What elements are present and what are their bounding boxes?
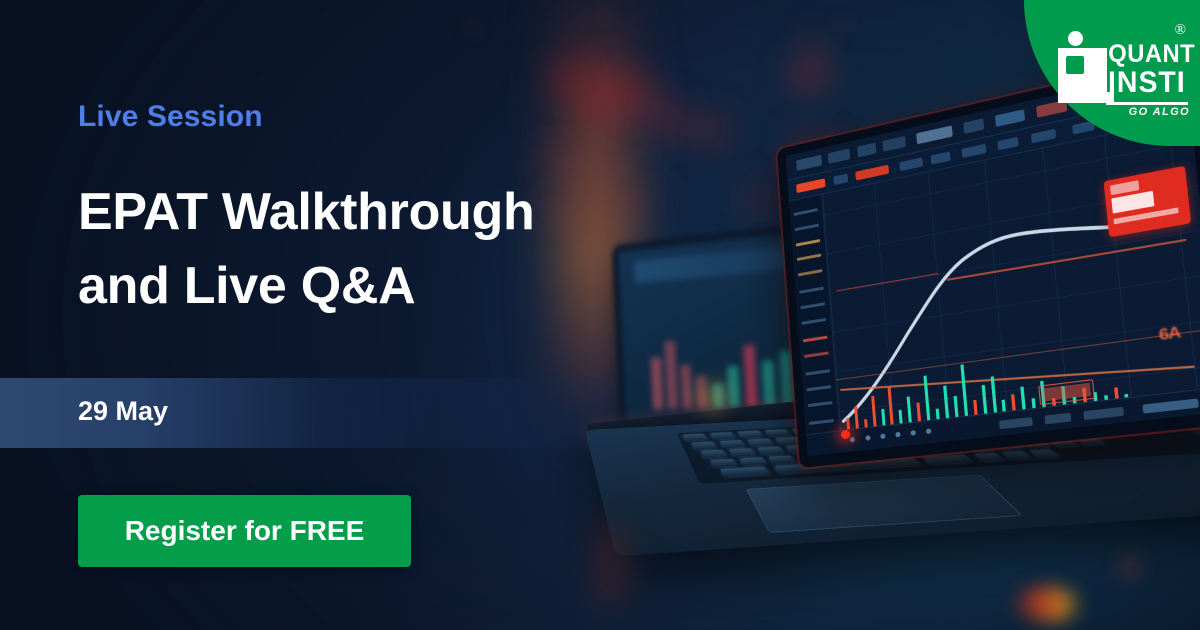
- registered-trademark-icon: ®: [1175, 22, 1186, 39]
- logo-tagline: GO ALGO: [1112, 106, 1190, 118]
- logo-person-head-icon: [1068, 31, 1083, 46]
- headline-line-2: and Live Q&A: [78, 250, 534, 324]
- logo-divider: [1106, 102, 1188, 105]
- promo-banner: 6A: [0, 0, 1200, 630]
- eyebrow-label: Live Session: [78, 100, 263, 134]
- logo-wordmark-quant: QUANT: [1108, 42, 1195, 67]
- register-button[interactable]: Register for FREE: [78, 495, 411, 567]
- event-date: 29 May: [78, 396, 168, 427]
- page-title: EPAT Walkthrough and Live Q&A: [78, 176, 534, 324]
- logo-wordmark-insti: INSTI: [1108, 68, 1186, 98]
- logo-person-body-icon: [1058, 48, 1098, 92]
- quantinsti-logo[interactable]: ® QUANT INSTI GO ALGO: [1024, 0, 1200, 146]
- headline-line-1: EPAT Walkthrough: [78, 183, 534, 241]
